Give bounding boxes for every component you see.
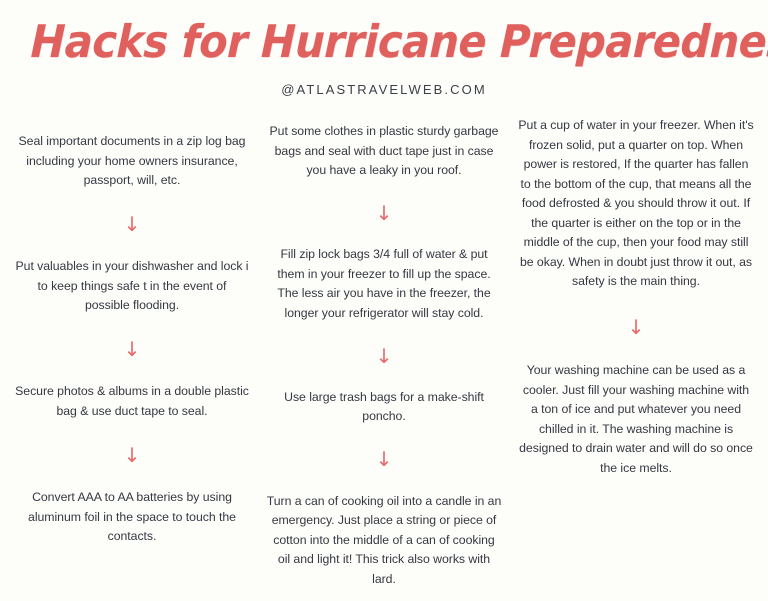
tip-item: Fill zip lock bags 3/4 full of water & p… bbox=[260, 245, 508, 323]
tip-item: Put valuables in your dishwasher and loc… bbox=[8, 257, 256, 316]
arrow-down-icon: ↓ bbox=[260, 203, 508, 223]
arrow-down-icon: ↓ bbox=[8, 339, 256, 359]
arrow-down-icon: ↓ bbox=[8, 214, 256, 234]
infographic-poster: Hacks for Hurricane Preparedness @ATLAST… bbox=[0, 0, 768, 536]
tip-item: Convert AAA to AA batteries by using alu… bbox=[8, 488, 256, 547]
column-middle: Put some clothes in plastic sturdy garba… bbox=[260, 104, 508, 601]
tips-columns: Seal important documents in a zip log ba… bbox=[0, 98, 768, 601]
column-left: Seal important documents in a zip log ba… bbox=[8, 104, 256, 559]
column-right: Put a cup of water in your freezer. When… bbox=[512, 104, 760, 491]
poster-header: Hacks for Hurricane Preparedness @ATLAST… bbox=[0, 0, 768, 98]
tip-item: Put some clothes in plastic sturdy garba… bbox=[260, 122, 508, 181]
arrow-down-icon: ↓ bbox=[260, 346, 508, 366]
tip-item: Turn a can of cooking oil into a candle … bbox=[260, 492, 508, 590]
tip-item: Seal important documents in a zip log ba… bbox=[8, 132, 256, 191]
tip-item: Secure photos & albums in a double plast… bbox=[8, 382, 256, 421]
tip-item: Put a cup of water in your freezer. When… bbox=[512, 116, 760, 292]
arrow-down-icon: ↓ bbox=[512, 317, 760, 337]
social-handle: @ATLASTRAVELWEB.COM bbox=[0, 82, 768, 98]
arrow-down-icon: ↓ bbox=[260, 449, 508, 469]
tip-item: Use large trash bags for a make-shift po… bbox=[260, 388, 508, 427]
page-title: Hacks for Hurricane Preparedness bbox=[30, 16, 738, 68]
arrow-down-icon: ↓ bbox=[8, 445, 256, 465]
tip-item: Your washing machine can be used as a co… bbox=[512, 361, 760, 478]
